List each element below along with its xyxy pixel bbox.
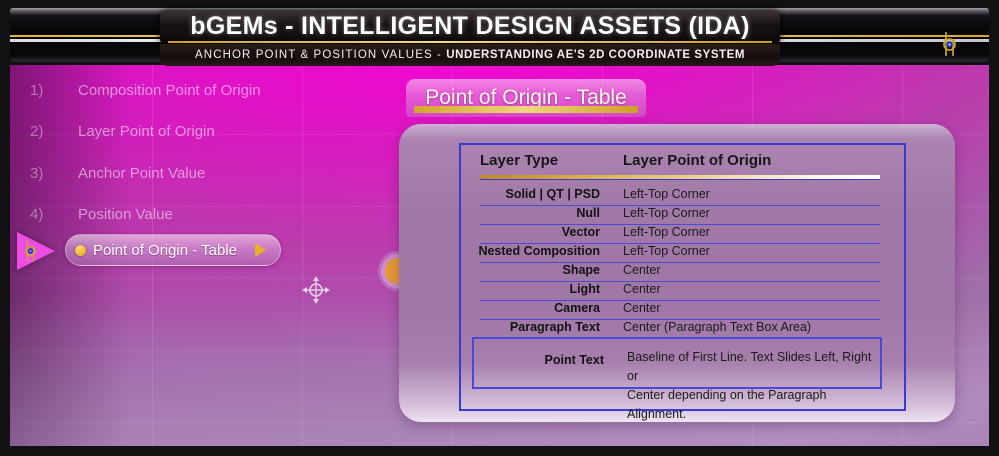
row-layer-type: Vector — [472, 225, 600, 239]
bullet-dot-icon — [75, 245, 86, 256]
sidebar-item-2-number: 2) — [30, 123, 43, 140]
row-origin: Center (Paragraph Text Box Area) — [623, 320, 811, 334]
sidebar-item-4-label: Position Value — [78, 206, 173, 223]
row-origin: Left-Top Corner — [623, 225, 710, 239]
callout-origin: Baseline of First Line. Text Slides Left… — [627, 348, 880, 424]
row-layer-type: Shape — [472, 263, 600, 277]
point-text-callout: Point Text Baseline of First Line. Text … — [472, 337, 882, 389]
table-header-row: Layer Type Layer Point of Origin — [472, 152, 882, 178]
sidebar-item-4-number: 4) — [30, 206, 43, 223]
b-logo-icon-small — [22, 239, 40, 263]
table-row: Camera Center — [472, 301, 882, 320]
active-item-pill[interactable]: Point of Origin - Table — [65, 234, 281, 266]
active-item-label: Point of Origin - Table — [93, 242, 237, 259]
callout-line-1: Baseline of First Line. Text Slides Left… — [627, 350, 871, 383]
row-layer-type: Camera — [472, 301, 600, 315]
main-title-box: bGEMs - INTELLIGENT DESIGN ASSETS (IDA) — [160, 10, 780, 42]
table-header-layer-type: Layer Type — [480, 152, 558, 169]
table-row: Nested Composition Left-Top Corner — [472, 244, 882, 263]
page-subtitle: ANCHOR POINT & POSITION VALUES - UNDERST… — [195, 49, 745, 61]
row-origin: Center — [623, 282, 661, 296]
subtitle-box: ANCHOR POINT & POSITION VALUES - UNDERST… — [160, 44, 780, 66]
table-row: Vector Left-Top Corner — [472, 225, 882, 244]
sidebar-item-1-label: Composition Point of Origin — [78, 82, 261, 99]
page-title: bGEMs - INTELLIGENT DESIGN ASSETS (IDA) — [190, 12, 749, 41]
sidebar-item-1-number: 1) — [30, 82, 43, 99]
subtitle-bold: UNDERSTANDING AE'S 2D COORDINATE SYSTEM — [446, 49, 745, 61]
title-bar: bGEMs - INTELLIGENT DESIGN ASSETS (IDA) … — [10, 8, 989, 62]
chevron-right-icon — [255, 243, 266, 257]
callout-layer-type: Point Text — [476, 353, 604, 367]
row-origin: Center — [623, 263, 661, 277]
row-layer-type: Light — [472, 282, 600, 296]
sidebar-item-3-label: Anchor Point Value — [78, 165, 205, 182]
row-layer-type: Paragraph Text — [472, 320, 600, 334]
subtitle-plain: ANCHOR POINT & POSITION VALUES - — [195, 49, 446, 61]
row-layer-type: Nested Composition — [472, 244, 600, 258]
slide-stage: bGEMs - INTELLIGENT DESIGN ASSETS (IDA) … — [0, 0, 999, 456]
row-origin: Left-Top Corner — [623, 244, 710, 258]
table-header-point-of-origin: Layer Point of Origin — [623, 152, 771, 169]
anchor-point-crosshair-icon — [300, 274, 332, 306]
callout-line-2: Center depending on the Paragraph Alignm… — [627, 388, 826, 421]
table-row: Light Center — [472, 282, 882, 301]
table-row: Shape Center — [472, 263, 882, 282]
sidebar-item-2-label: Layer Point of Origin — [78, 123, 215, 140]
row-origin: Left-Top Corner — [623, 187, 710, 201]
row-origin: Left-Top Corner — [623, 206, 710, 220]
row-origin: Center — [623, 301, 661, 315]
origin-table: Layer Type Layer Point of Origin Solid |… — [472, 152, 882, 339]
row-layer-type: Null — [472, 206, 600, 220]
sidebar-item-3-number: 3) — [30, 165, 43, 182]
title-underline — [168, 41, 772, 43]
table-row: Solid | QT | PSD Left-Top Corner — [472, 187, 882, 206]
row-layer-type: Solid | QT | PSD — [472, 187, 600, 201]
table-title-underline — [414, 106, 638, 113]
b-logo-icon — [939, 30, 961, 58]
table-row: Null Left-Top Corner — [472, 206, 882, 225]
table-header-rule — [480, 175, 880, 179]
